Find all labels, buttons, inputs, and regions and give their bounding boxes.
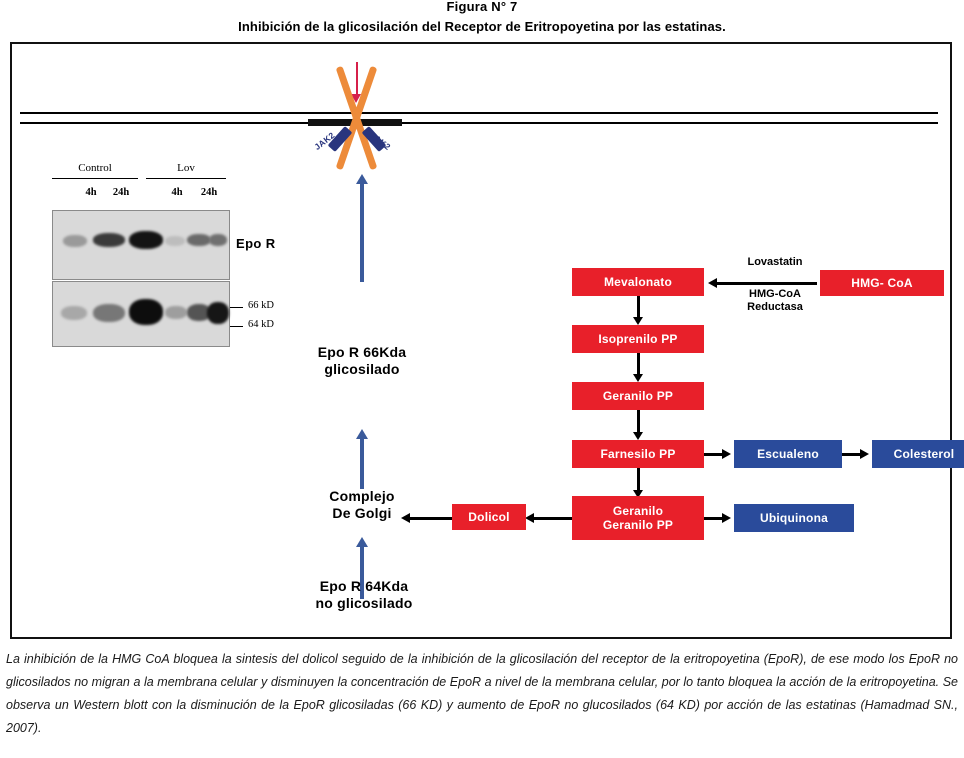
membrane-line-outer (20, 112, 938, 114)
arrow-escualeno-to-colesterol (842, 453, 862, 456)
pathway-box-mevalonato[interactable]: Mevalonato (572, 268, 704, 296)
arrow-dolicol-to-golgi (410, 517, 452, 520)
blot-group-rule-lov (146, 178, 226, 179)
pathway-box-ubiquinona[interactable]: Ubiquinona (734, 504, 854, 532)
enzyme-label-line2: Reductasa (710, 301, 840, 314)
transport-arrow-to-membrane (360, 182, 364, 282)
gel-band (207, 302, 229, 324)
arrow-geranilgeranilo-to-dolicol (534, 517, 572, 520)
pathway-box-farnesilo-pp[interactable]: Farnesilo PP (572, 440, 704, 468)
label-epor-unglycosylated-line2: no glicosilado (274, 595, 454, 612)
epo-stimulus-arrow (356, 62, 358, 96)
transport-arrow-to-membrane-head (356, 174, 368, 184)
marker-tick-64 (230, 326, 243, 327)
transport-arrow-golgi-to-glyco-head (356, 429, 368, 439)
arrow-geranilo-to-farnesilo (637, 410, 640, 434)
arrow-hmgcoa-to-mevalonato (717, 282, 817, 285)
marker-label-64: 64 kD (248, 319, 274, 330)
arrow-isoprenilo-to-geranilo-head (633, 374, 643, 382)
transport-arrow-golgi-to-glyco (360, 437, 364, 489)
inhibitor-label-lovastatin: Lovastatin (710, 256, 840, 269)
blot-time-lov-4h: 4h (164, 187, 190, 198)
label-epor-glycosylated: Epo R 66Kda glicosilado (280, 344, 444, 378)
gel-band (129, 231, 163, 249)
marker-tick-66 (230, 307, 243, 308)
arrow-farnesilo-to-escualeno-head (722, 449, 731, 459)
arrow-hmgcoa-to-mevalonato-head (708, 278, 717, 288)
figure-subtitle: Inhibición de la glicosilación del Recep… (0, 19, 964, 34)
arrow-mevalonato-to-isoprenilo (637, 296, 640, 319)
figure-caption: La inhibición de la HMG CoA bloquea la s… (6, 648, 958, 740)
blot-time-control-4h: 4h (78, 187, 104, 198)
arrow-geranilgeranilo-to-ubiquinona-head (722, 513, 731, 523)
marker-label-66: 66 kD (248, 300, 274, 311)
pathway-box-geranilgeranilo-pp[interactable]: Geranilo Geranilo PP (572, 496, 704, 540)
label-golgi-complex-line1: Complejo (280, 488, 444, 505)
blot-group-label-control: Control (52, 162, 138, 174)
arrow-geranilo-to-farnesilo-head (633, 432, 643, 440)
label-epor-unglycosylated: Epo R 64Kda no glicosilado (274, 578, 454, 612)
arrow-isoprenilo-to-geranilo (637, 353, 640, 376)
label-epor-unglycosylated-line1: Epo R 64Kda (274, 578, 454, 595)
blot-group-label-lov: Lov (146, 162, 226, 174)
gel-band (63, 235, 87, 247)
label-epor-glycosylated-line1: Epo R 66Kda (280, 344, 444, 361)
gel-band (129, 299, 163, 325)
gel-band (165, 306, 187, 319)
figure-caption-text: La inhibición de la HMG CoA bloquea la s… (6, 648, 958, 740)
figure-frame: JAK2 JAK2 Control Lov 4h 24h 4h 24h (10, 42, 952, 639)
pathway-box-isoprenilo-pp[interactable]: Isoprenilo PP (572, 325, 704, 353)
enzyme-label-hmgcoa-reductasa: HMG-CoA Reductasa (710, 288, 840, 313)
blot-group-rule-control (52, 178, 138, 179)
gel-panel-bottom (52, 281, 230, 347)
label-epor-glycosylated-line2: glicosilado (280, 361, 444, 378)
gel-band (209, 234, 227, 246)
pathway-box-escualeno[interactable]: Escualeno (734, 440, 842, 468)
gel-band (93, 233, 125, 247)
gel-band (187, 234, 211, 246)
blot-time-control-24h: 24h (108, 187, 134, 198)
arrow-farnesilo-to-geranilgeranilo (637, 468, 640, 492)
pathway-box-colesterol[interactable]: Colesterol (872, 440, 964, 468)
arrow-geranilgeranilo-to-ubiquinona (704, 517, 724, 520)
figure-label: Figura N° 7 (0, 0, 964, 14)
transport-arrow-unglyco-to-golgi-head (356, 537, 368, 547)
pathway-box-dolicol[interactable]: Dolicol (452, 504, 526, 530)
membrane-line-inner (20, 122, 938, 124)
gel-panel-top (52, 210, 230, 280)
blot-time-lov-24h: 24h (196, 187, 222, 198)
epo-receptor-complex: JAK2 JAK2 (297, 64, 417, 174)
western-blot: Control Lov 4h 24h 4h 24h Epo R 66 kD (34, 162, 284, 362)
gel-band (61, 306, 87, 320)
arrow-geranilgeranilo-to-dolicol-head (525, 513, 534, 523)
pathway-box-geranilgeranilo-line1: Geranilo (603, 504, 673, 518)
pathway-box-geranilgeranilo-line2: Geranilo PP (603, 518, 673, 532)
gel-band (93, 304, 125, 322)
enzyme-label-line1: HMG-CoA (710, 288, 840, 301)
gel-band (165, 236, 185, 246)
arrow-mevalonato-to-isoprenilo-head (633, 317, 643, 325)
arrow-escualeno-to-colesterol-head (860, 449, 869, 459)
blot-protein-label: Epo R (236, 236, 276, 251)
arrow-dolicol-to-golgi-head (401, 513, 410, 523)
arrow-farnesilo-to-escualeno (704, 453, 724, 456)
pathway-box-geranilo-pp[interactable]: Geranilo PP (572, 382, 704, 410)
